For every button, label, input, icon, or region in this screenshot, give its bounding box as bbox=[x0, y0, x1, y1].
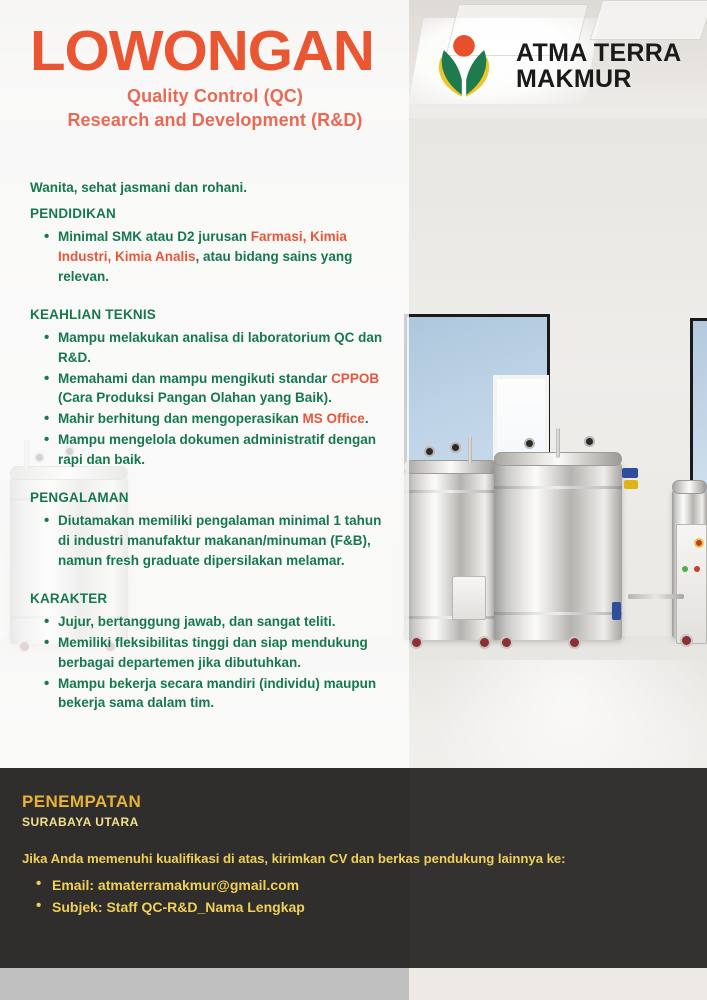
requirement-text: (Cara Produksi Pangan Olahan yang Baik). bbox=[58, 390, 332, 405]
section-spacer bbox=[30, 571, 390, 583]
requirement-text: Jujur, bertanggung jawab, dan sangat tel… bbox=[58, 614, 336, 629]
company-logo: ATMA TERRA MAKMUR bbox=[428, 30, 681, 102]
requirement-text: Mampu melakukan analisa di laboratorium … bbox=[58, 330, 382, 365]
section-heading: PENDIDIKAN bbox=[30, 206, 390, 221]
requirement-item: Mampu bekerja secara mandiri (individu) … bbox=[30, 674, 390, 713]
requirement-text: Memiliki fleksibilitas tinggi dan siap m… bbox=[58, 635, 368, 670]
application-cta: Jika Anda memenuhi kualifikasi di atas, … bbox=[22, 851, 566, 866]
header-title-block: LOWONGAN Quality Control (QC) Research a… bbox=[30, 24, 400, 133]
company-name: ATMA TERRA MAKMUR bbox=[516, 40, 681, 93]
job-posting-poster: LOWONGAN Quality Control (QC) Research a… bbox=[0, 0, 707, 1000]
requirement-item: Mahir berhitung dan mengoperasikan MS Of… bbox=[30, 409, 390, 429]
footer-panel: PENEMPATAN SURABAYA UTARA Jika Anda meme… bbox=[0, 768, 707, 968]
requirement-item: Memahami dan mampu mengikuti standar CPP… bbox=[30, 369, 390, 408]
indicator-led bbox=[694, 566, 700, 572]
contact-list: Email: atmaterramakmur@gmail.comSubjek: … bbox=[34, 871, 305, 915]
blue-valve bbox=[622, 468, 638, 478]
pressure-gauge bbox=[584, 436, 595, 447]
tank-lid bbox=[404, 460, 498, 474]
section-heading: KEAHLIAN TEKNIS bbox=[30, 307, 390, 322]
bottom-strip bbox=[0, 968, 707, 1000]
logo-mark-icon bbox=[428, 30, 500, 102]
requirement-item: Mampu mengelola dokumen administratif de… bbox=[30, 430, 390, 469]
pipe bbox=[556, 428, 560, 458]
steel-tank bbox=[494, 462, 622, 640]
pressure-gauge bbox=[450, 442, 461, 453]
requirement-text: Mampu bekerja secara mandiri (individu) … bbox=[58, 676, 376, 711]
requirement-text: . bbox=[365, 411, 369, 426]
requirements-content: Wanita, sehat jasmani dan rohani. PENDID… bbox=[30, 178, 390, 726]
general-requirement: Wanita, sehat jasmani dan rohani. bbox=[30, 178, 390, 198]
requirement-list: Minimal SMK atau D2 jurusan Farmasi, Kim… bbox=[30, 227, 390, 286]
requirement-text: Memahami dan mampu mengikuti standar bbox=[58, 371, 331, 386]
control-box bbox=[452, 576, 486, 620]
page-title: LOWONGAN bbox=[30, 24, 407, 78]
requirement-item: Diutamakan memiliki pengalaman minimal 1… bbox=[30, 511, 390, 570]
caster-wheel bbox=[478, 636, 491, 649]
bottom-strip-left bbox=[0, 968, 409, 1000]
tank-lid bbox=[672, 480, 707, 494]
requirement-list: Diutamakan memiliki pengalaman minimal 1… bbox=[30, 511, 390, 570]
pressure-gauge bbox=[424, 446, 435, 457]
requirement-text: Mampu mengelola dokumen administratif de… bbox=[58, 432, 376, 467]
blue-valve bbox=[612, 602, 621, 620]
emergency-stop-button bbox=[694, 538, 704, 548]
section-spacer bbox=[30, 470, 390, 482]
company-name-line2: MAKMUR bbox=[516, 66, 681, 93]
caster-wheel bbox=[680, 634, 693, 647]
highlighted-keyword: MS Office bbox=[303, 411, 365, 426]
caster-wheel bbox=[410, 636, 423, 649]
footer-right-tint bbox=[409, 768, 707, 968]
indicator-led bbox=[682, 566, 688, 572]
floor-rail bbox=[628, 594, 684, 599]
atma-terra-makmur-leaf-icon bbox=[428, 30, 500, 102]
requirement-item: Jujur, bertanggung jawab, dan sangat tel… bbox=[30, 612, 390, 632]
section-spacer bbox=[30, 287, 390, 299]
contact-email[interactable]: Email: atmaterramakmur@gmail.com bbox=[34, 877, 305, 893]
caster-wheel bbox=[568, 636, 581, 649]
contact-subject: Subjek: Staff QC-R&D_Nama Lengkap bbox=[34, 899, 305, 915]
job-role-qc: Quality Control (QC) bbox=[30, 84, 400, 108]
requirement-item: Minimal SMK atau D2 jurusan Farmasi, Kim… bbox=[30, 227, 390, 286]
section-heading: PENGALAMAN bbox=[30, 490, 390, 505]
job-role-subtitle: Quality Control (QC) Research and Develo… bbox=[30, 84, 400, 133]
requirement-text: Mahir berhitung dan mengoperasikan bbox=[58, 411, 303, 426]
requirement-list: Jujur, bertanggung jawab, dan sangat tel… bbox=[30, 612, 390, 713]
caster-wheel bbox=[500, 636, 513, 649]
requirement-text: Diutamakan memiliki pengalaman minimal 1… bbox=[58, 513, 381, 567]
bottom-strip-right bbox=[409, 968, 707, 1000]
yellow-valve bbox=[624, 480, 638, 489]
highlighted-keyword: CPPOB bbox=[331, 371, 379, 386]
requirement-list: Mampu melakukan analisa di laboratorium … bbox=[30, 328, 390, 469]
requirement-item: Mampu melakukan analisa di laboratorium … bbox=[30, 328, 390, 367]
pressure-gauge bbox=[524, 438, 535, 449]
requirement-sections: PENDIDIKANMinimal SMK atau D2 jurusan Fa… bbox=[30, 206, 390, 726]
pipe bbox=[468, 436, 472, 464]
section-spacer bbox=[30, 714, 390, 726]
placement-city: SURABAYA UTARA bbox=[22, 815, 139, 829]
requirement-item: Memiliki fleksibilitas tinggi dan siap m… bbox=[30, 633, 390, 672]
section-heading: KARAKTER bbox=[30, 591, 390, 606]
glass-window-panel-right bbox=[690, 318, 707, 496]
company-name-line1: ATMA TERRA bbox=[516, 40, 681, 67]
requirement-text: Minimal SMK atau D2 jurusan bbox=[58, 229, 251, 244]
placement-label: PENEMPATAN bbox=[22, 792, 141, 812]
job-role-rnd: Research and Development (R&D) bbox=[30, 108, 400, 132]
